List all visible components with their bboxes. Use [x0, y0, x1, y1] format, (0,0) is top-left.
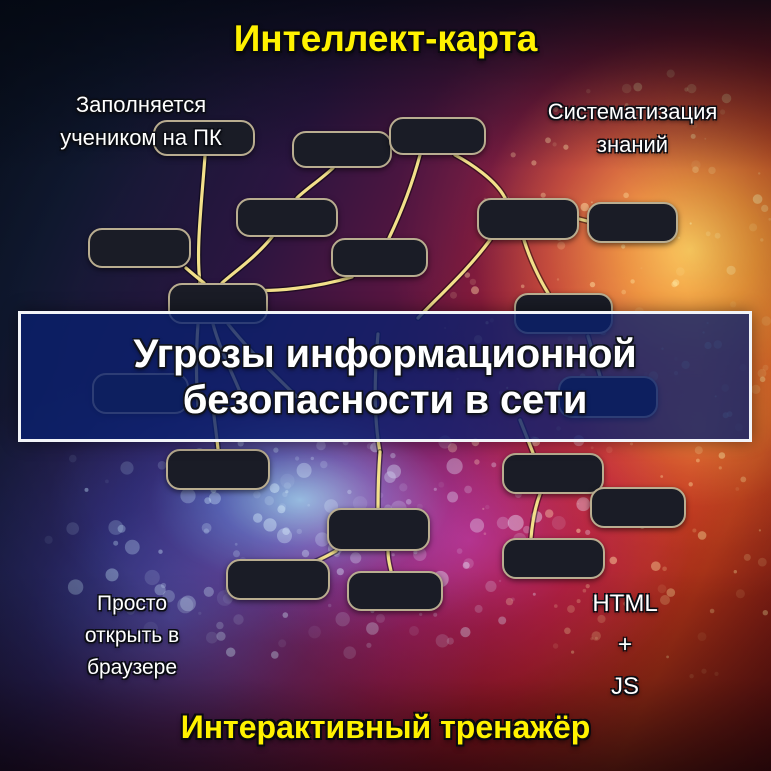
page-title-top: Интеллект-карта [0, 18, 771, 60]
caption-filled-by-student: Заполняется учеником на ПК [26, 88, 256, 155]
mindmap-node[interactable] [502, 453, 604, 494]
mindmap-node[interactable] [477, 198, 579, 240]
mindmap-node[interactable] [236, 198, 338, 237]
center-banner-line-1: Угрозы информационной [133, 331, 636, 377]
mindmap-node[interactable] [587, 202, 678, 243]
center-banner-line-2: безопасности в сети [183, 377, 588, 423]
mindmap-node[interactable] [590, 487, 686, 528]
page-title-bottom: Интерактивный тренажёр [0, 709, 771, 746]
caption-knowledge-systematization: Систематизация знаний [520, 95, 745, 162]
edge-04-09 [222, 237, 272, 283]
caption-open-in-browser: Просто открыть в браузере [52, 588, 212, 684]
mindmap-node[interactable] [327, 508, 430, 551]
edge-02-04 [297, 168, 333, 198]
edge-05-06 [579, 219, 587, 221]
mindmap-node[interactable] [331, 238, 428, 277]
mindmap-node[interactable] [347, 571, 443, 611]
mindmap-node[interactable] [389, 117, 486, 155]
mindmap-node[interactable] [292, 131, 392, 168]
mindmap-node[interactable] [166, 449, 270, 490]
center-banner: Угрозы информационной безопасности в сет… [18, 311, 752, 442]
mindmap-poster: Заполняется учеником на ПК Систематизаци… [0, 0, 771, 771]
caption-html-js: HTML + JS [545, 583, 705, 707]
mindmap-node[interactable] [226, 559, 330, 600]
mindmap-node[interactable] [88, 228, 191, 268]
mindmap-node[interactable] [502, 538, 605, 579]
